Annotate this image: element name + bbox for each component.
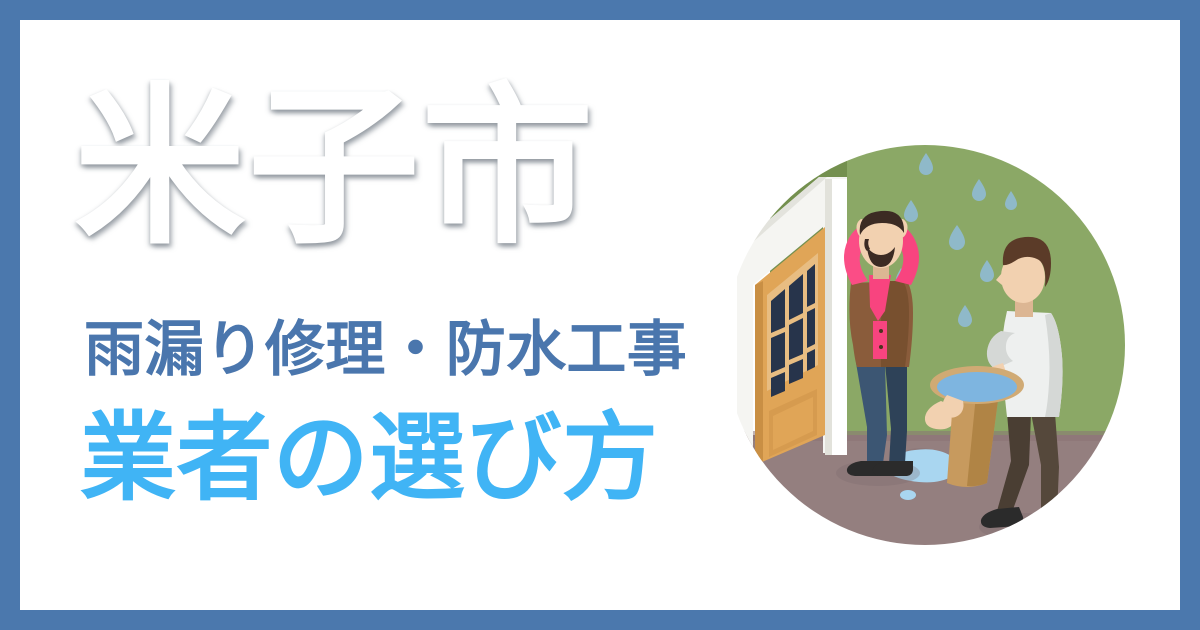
leaking-roof-illustration <box>715 135 1135 555</box>
banner: 米子市 雨漏り修理・防水工事 業者の選び方 <box>0 0 1200 630</box>
door-slab-edge <box>755 281 763 465</box>
page-title: 米子市 <box>74 82 595 254</box>
puddle-splash-2 <box>900 490 916 500</box>
distressed-man-shirt-bottom <box>873 321 887 359</box>
headline: 業者の選び方 <box>80 411 658 507</box>
banner-inner: 米子市 雨漏り修理・防水工事 業者の選び方 <box>20 20 1180 610</box>
door-jamb-right-shade <box>825 179 832 455</box>
illustration <box>715 135 1135 555</box>
text-block: 米子市 雨漏り修理・防水工事 業者の選び方 <box>60 60 720 570</box>
subtitle: 雨漏り修理・防水工事 <box>84 320 687 380</box>
bucket-man-shoe-front <box>1028 513 1071 530</box>
illustration-circle-group <box>715 135 1135 555</box>
